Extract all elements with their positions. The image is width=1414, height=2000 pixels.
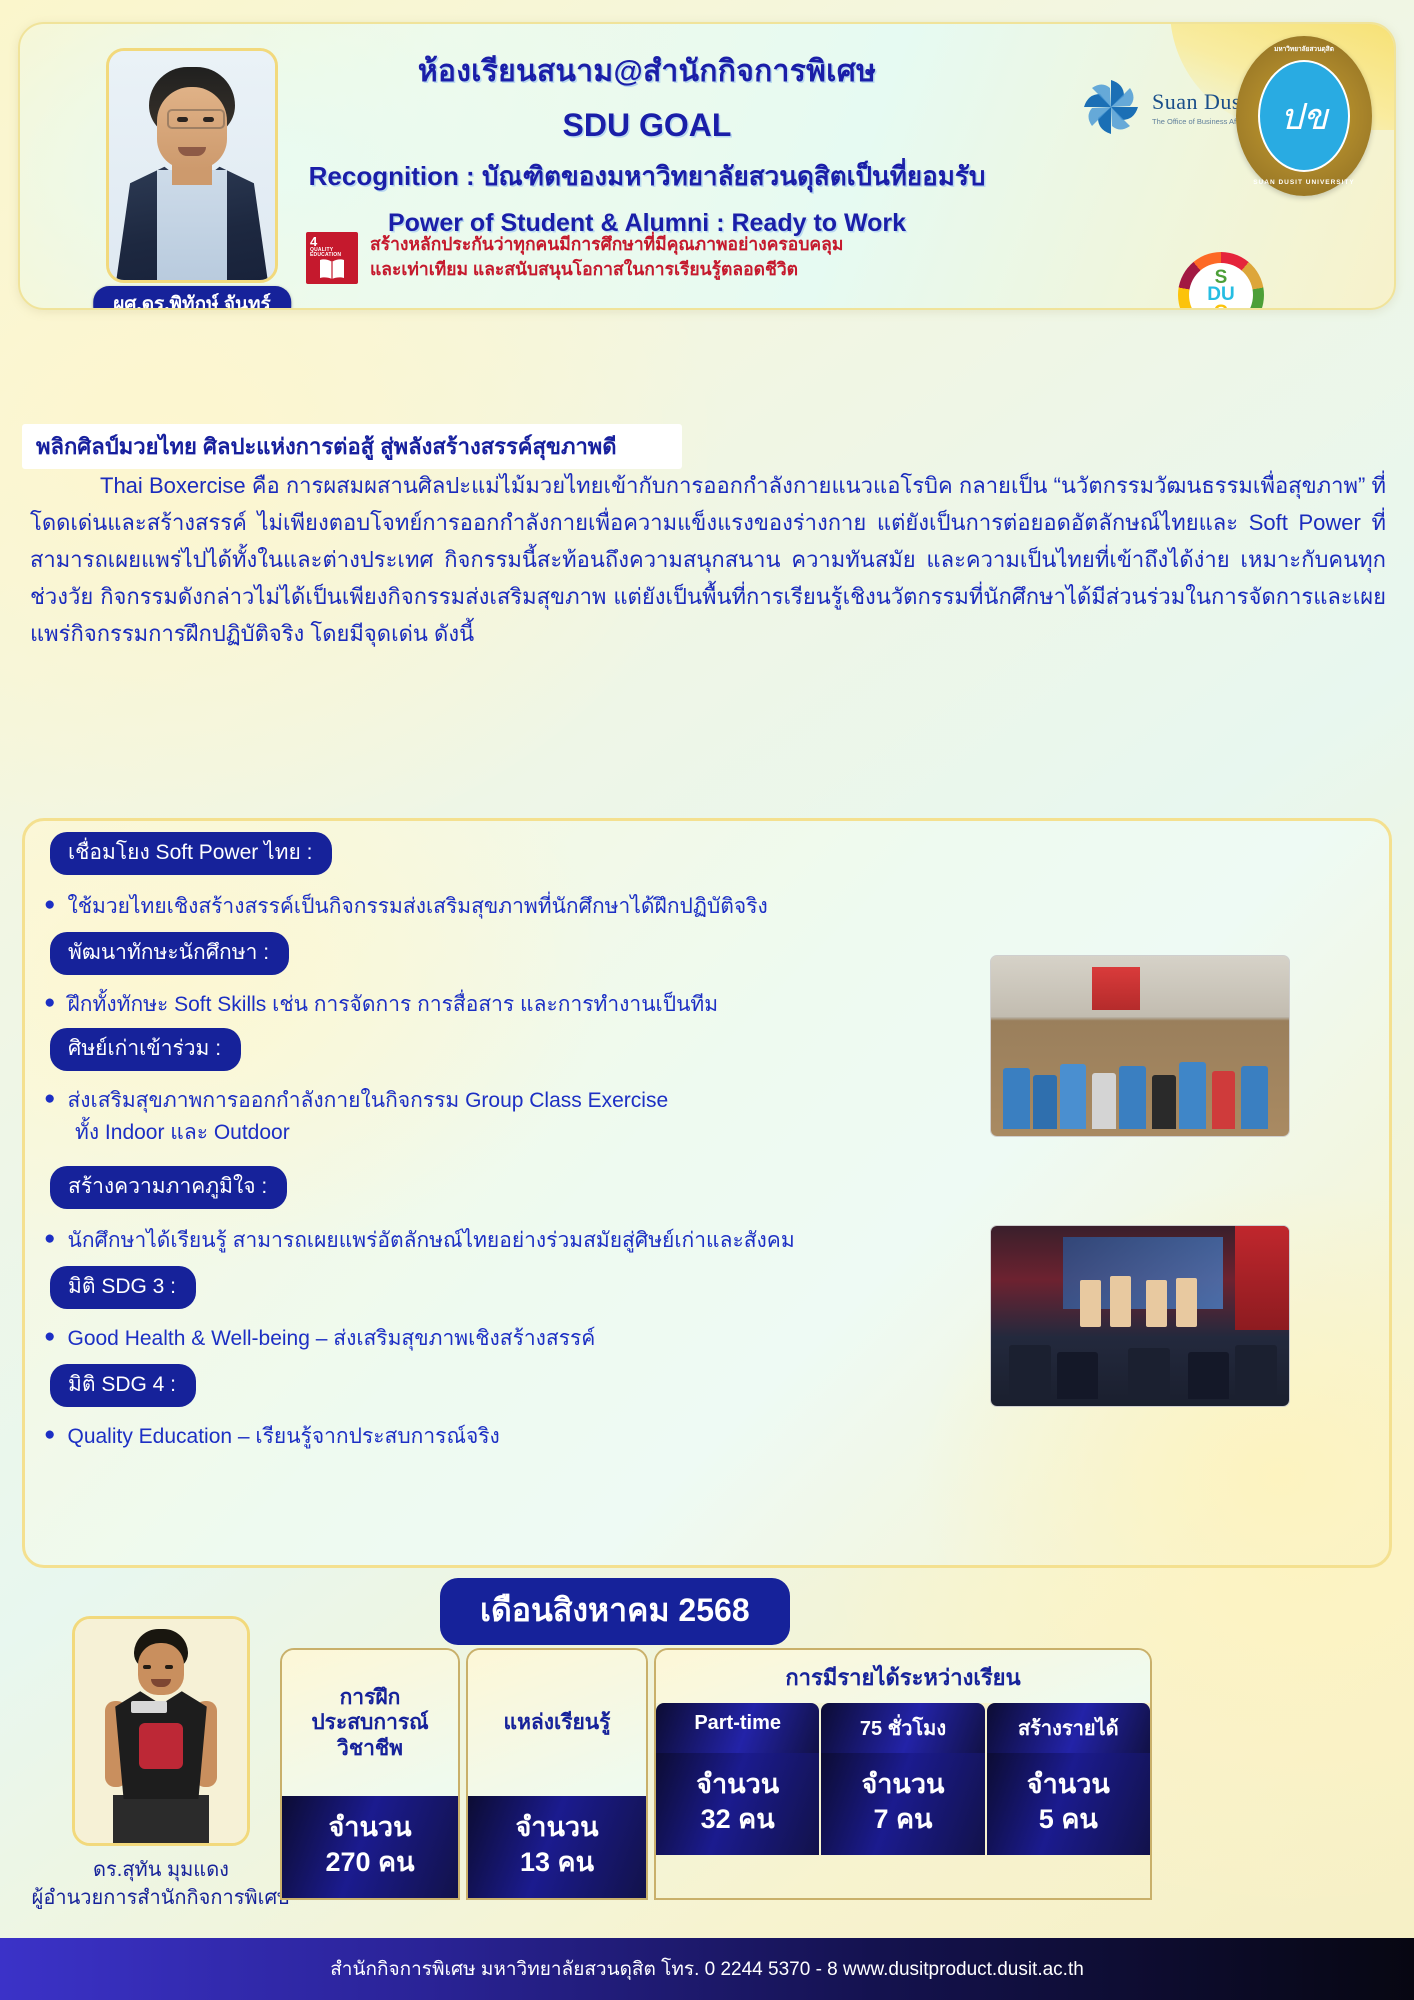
sdg-statement-line-2: และเท่าเทียม และสนับสนุนโอกาสในการเรียนร… [370,257,843,282]
header-panel: ผศ.ดร.พิทักษ์ จันทร์ อธิการบดี ประธานกรร… [18,22,1396,310]
section-headline: พลิกศิลป์มวยไทย ศิลปะแห่งการต่อสู้ สู่พล… [22,424,682,469]
stats-table: การฝึก ประสบการณ์ วิชาชีพ จำนวน 270 คน แ… [280,1648,1152,1900]
sdg-wheel-g: G [1214,304,1229,310]
stat-number: 270 คน [288,1845,452,1880]
highlight-bullet-2-1: ทั้ง Indoor และ Outdoor [44,1118,290,1148]
income-value-parttime: จำนวน 32 คน [656,1753,819,1855]
stat-number: 5 คน [991,1802,1146,1837]
sdg-statement-text: สร้างหลักประกันว่าทุกคนมีการศึกษาที่มีคุ… [370,232,843,283]
photo-group-class-exercise [990,955,1290,1137]
suan-dusit-logo: Suan Dusit The Office of Business Affair… [1080,76,1254,138]
bullet-dot-icon: ● [44,1086,55,1116]
highlight-tag-4: มิติ SDG 3 : [50,1266,196,1309]
highlight-tag-3: สร้างความภาคภูมิใจ : [50,1166,287,1209]
stat-head-internship: การฝึก ประสบการณ์ วิชาชีพ [282,1650,458,1796]
director-name: ดร.สุทัน มุมแดง [0,1856,322,1884]
avatar-director [72,1616,250,1846]
income-value-75hours: จำนวน 7 คน [821,1753,984,1855]
income-col-label-generate-income: สร้างรายได้ [987,1703,1150,1753]
stat-column-learning-source: แหล่งเรียนรู้ จำนวน 13 คน [466,1648,648,1900]
stat-value-learning-source: จำนวน 13 คน [468,1796,646,1898]
stat-value-internship: จำนวน 270 คน [282,1796,458,1898]
highlight-bullet-1-0: ● ฝึกทั้งทักษะ Soft Skills เช่น การจัดกา… [44,990,974,1020]
title-line-2: SDU GOAL [252,107,1042,144]
stat-number: 7 คน [825,1802,980,1837]
sdg-statement-line-1: สร้างหลักประกันว่าทุกคนมีการศึกษาที่มีคุ… [370,232,843,257]
stat-unit-label: จำนวน [474,1810,640,1845]
bullet-dot-icon: ● [44,990,55,1016]
director-caption: ดร.สุทัน มุมแดง ผู้อำนวยการสำนักกิจการพิ… [0,1856,322,1912]
stat-column-internship: การฝึก ประสบการณ์ วิชาชีพ จำนวน 270 คน [280,1648,460,1900]
highlight-bullet-0-0: ● ใช้มวยไทยเชิงสร้างสรรค์เป็นกิจกรรมส่งเ… [44,892,974,922]
sdg-goal-4-tile: 4 QUALITY EDUCATION [306,232,358,284]
stat-number: 32 คน [660,1802,815,1837]
highlight-tag-5: มิติ SDG 4 : [50,1364,196,1407]
poster-root: ผศ.ดร.พิทักษ์ จันทร์ อธิการบดี ประธานกรร… [0,0,1414,2000]
highlight-bullet-3-0: ● นักศึกษาได้เรียนรู้ สามารถเผยแพร่อัตลั… [44,1226,974,1256]
header-titles: ห้องเรียนสนาม@สำนักกิจการพิเศษ SDU GOAL … [252,48,1042,238]
stat-group-income-while-studying: การมีรายได้ระหว่างเรียน Part-time 75 ชั่… [654,1648,1152,1900]
stat-unit-label: จำนวน [660,1767,815,1802]
bullet-dot-icon: ● [44,1324,55,1350]
seal-inner-disc: ปข [1258,60,1350,172]
pinwheel-icon [1080,76,1142,138]
highlight-bullet-2: ● ส่งเสริมสุขภาพการออกกำลังกายในกิจกรรม … [44,1086,974,1148]
bullet-dot-icon: ● [44,1226,55,1252]
footer-contact-text: สำนักกิจการพิเศษ มหาวิทยาลัยสวนดุสิต โทร… [330,1954,1084,1984]
seal-monogram: ปข [1280,88,1327,145]
stat-number: 13 คน [474,1845,640,1880]
income-group-head: การมีรายได้ระหว่างเรียน [656,1650,1150,1703]
intro-paragraph: Thai Boxercise คือ การผสมผสานศิลปะแม่ไม้… [30,468,1386,653]
director-position: ผู้อำนวยการสำนักกิจการพิเศษ [0,1884,322,1912]
highlight-tag-1: พัฒนาทักษะนักศึกษา : [50,932,289,975]
month-badge: เดือนสิงหาคม 2568 [440,1578,790,1645]
stat-unit-label: จำนวน [991,1767,1146,1802]
title-line-3: Recognition : บัณฑิตของมหาวิทยาลัยสวนดุส… [252,156,1042,197]
seal-bottom-text: SUAN DUSIT UNIVERSITY [1253,179,1355,186]
title-line-1: ห้องเรียนสนาม@สำนักกิจการพิเศษ [252,48,1042,95]
sdg-wheel-icon: S DU G [1178,252,1264,310]
highlight-tag-2: ศิษย์เก่าเข้าร่วม : [50,1028,241,1071]
photo-muaythai-stage-performance [990,1225,1290,1407]
seal-top-text: มหาวิทยาลัยสวนดุสิต [1274,44,1334,54]
bullet-dot-icon: ● [44,1422,55,1448]
book-icon [318,258,346,280]
stat-unit-label: จำนวน [288,1810,452,1845]
income-value-generate-income: จำนวน 5 คน [987,1753,1150,1855]
stat-unit-label: จำนวน [825,1767,980,1802]
president-name-badge: ผศ.ดร.พิทักษ์ จันทร์ [93,286,291,310]
highlight-bullet-4-0: ● Good Health & Well-being – ส่งเสริมสุข… [44,1324,974,1354]
sdg-goal-label: QUALITY EDUCATION [310,248,354,259]
president-photo [109,51,275,280]
stat-head-learning-source: แหล่งเรียนรู้ [468,1650,646,1796]
university-seal: มหาวิทยาลัยสวนดุสิต ปข SUAN DUSIT UNIVER… [1236,36,1372,196]
income-group-subheaders: Part-time 75 ชั่วโมง สร้างรายได้ [656,1703,1150,1753]
footer-bar: สำนักกิจการพิเศษ มหาวิทยาลัยสวนดุสิต โทร… [0,1938,1414,2000]
income-group-values: จำนวน 32 คน จำนวน 7 คน จำนวน 5 คน [656,1753,1150,1855]
bottom-section: ดร.สุทัน มุมแดง ผู้อำนวยการสำนักกิจการพิ… [0,1578,1414,1938]
bullet-dot-icon: ● [44,892,55,918]
sdg-statement-row: 4 QUALITY EDUCATION สร้างหลักประกันว่าทุ… [306,232,843,284]
highlight-tag-0: เชื่อมโยง Soft Power ไทย : [50,832,332,875]
income-col-label-75hours: 75 ชั่วโมง [821,1703,984,1753]
income-col-label-parttime: Part-time [656,1703,819,1753]
highlight-bullet-5-0: ● Quality Education – เรียนรู้จากประสบกา… [44,1422,974,1452]
